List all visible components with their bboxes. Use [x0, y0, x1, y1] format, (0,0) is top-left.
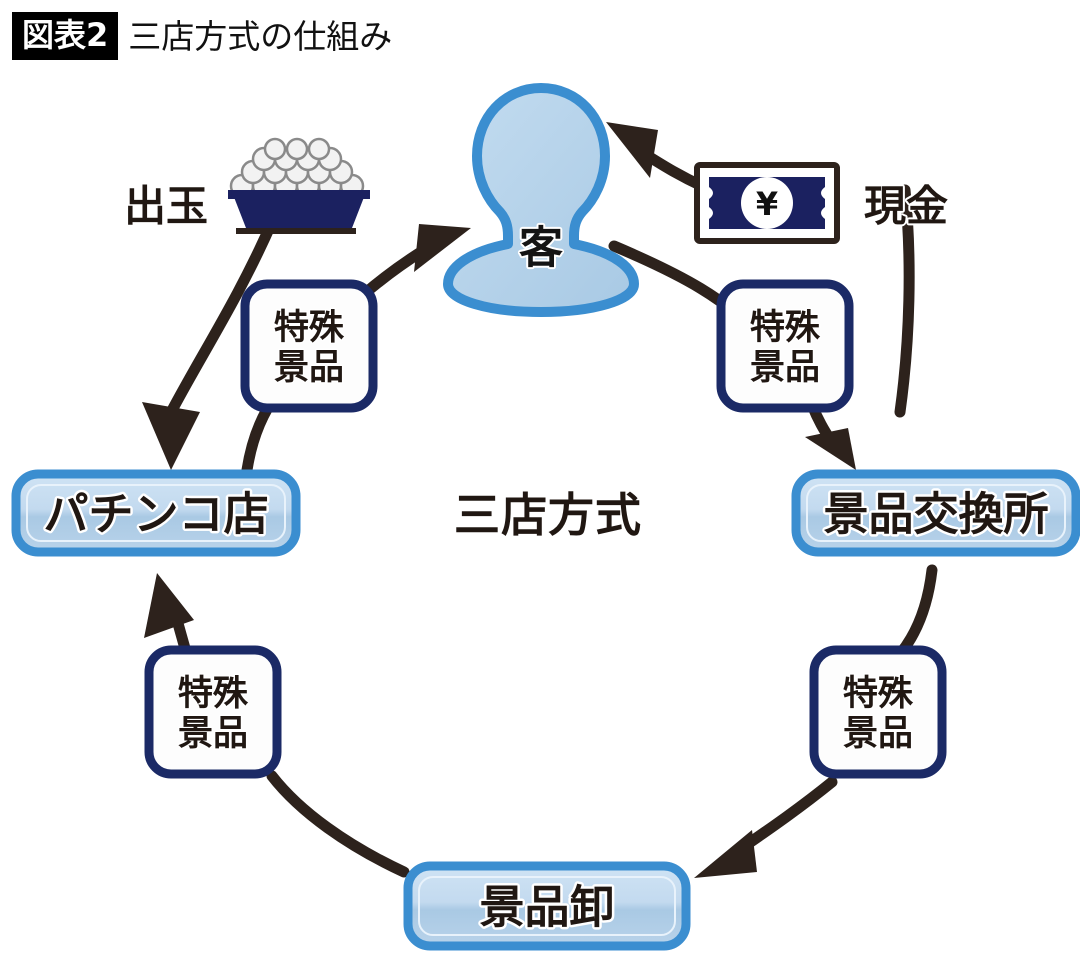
prize-box-top-left-line2: 景品 — [274, 348, 344, 388]
prize-box-bottom-left[interactable]: 特殊 景品 — [149, 650, 277, 774]
flow-exchange-to-prize-bottom — [900, 570, 932, 654]
flow-prize-to-wholesaler — [694, 782, 832, 878]
three-shop-diagram: 出玉 ¥ 現金 客 三店方式 パチンコ店 景品交換所 景品卸 特殊 景品 — [0, 0, 1080, 960]
node-wholesaler-label: 景品卸 — [479, 881, 614, 934]
prize-box-bottom-right-line2: 景品 — [843, 714, 913, 754]
ball-tray-icon — [228, 139, 370, 234]
flow-prize-to-pachinko — [144, 573, 194, 652]
node-pachinko-label: パチンコ店 — [43, 488, 268, 541]
prize-box-top-right[interactable]: 特殊 景品 — [721, 284, 849, 408]
prize-box-top-right-line2: 景品 — [750, 348, 820, 388]
prize-box-bottom-left-line2: 景品 — [178, 714, 248, 754]
balls-label: 出玉 — [124, 182, 208, 231]
node-exchange[interactable]: 景品交換所 — [796, 474, 1076, 552]
prize-box-bottom-right[interactable]: 特殊 景品 — [814, 650, 942, 774]
customer-label: 客 — [519, 223, 563, 274]
flow-wholesaler-to-prize-bottom-left — [272, 776, 404, 872]
prize-box-bottom-left-line1: 特殊 — [178, 674, 249, 714]
prize-box-top-right-line1: 特殊 — [750, 308, 821, 348]
cash-label: 現金 — [864, 182, 948, 231]
flow-prize-to-exchange — [805, 405, 856, 470]
person-icon — [448, 88, 634, 312]
node-pachinko[interactable]: パチンコ店 — [16, 474, 296, 552]
node-exchange-label: 景品交換所 — [823, 488, 1048, 541]
node-wholesaler[interactable]: 景品卸 — [408, 866, 686, 946]
prize-box-bottom-right-line1: 特殊 — [843, 674, 914, 714]
banknote-icon: ¥ — [697, 165, 837, 241]
yen-symbol: ¥ — [756, 185, 778, 223]
center-label: 三店方式 — [454, 488, 642, 542]
prize-box-top-left[interactable]: 特殊 景品 — [245, 284, 373, 408]
prize-box-top-left-line1: 特殊 — [274, 308, 345, 348]
flow-cash-to-customer — [606, 122, 704, 187]
